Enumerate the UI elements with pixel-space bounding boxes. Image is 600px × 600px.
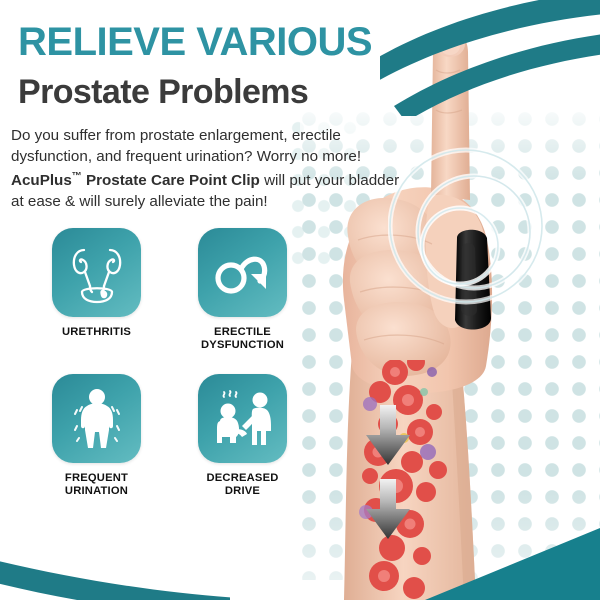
- symptom-card-grid: URETHRITIS ERECTILE DYSFUNCTION: [52, 228, 322, 498]
- page-subheadline: Prostate Problems: [18, 72, 308, 112]
- product-name: AcuPlus: [11, 172, 72, 189]
- symptom-card-label: URETHRITIS: [62, 326, 131, 339]
- body-line-4: at ease & will surely alleviate the pain…: [11, 193, 268, 210]
- symptom-card-tile: [52, 228, 141, 317]
- symptom-card-row: URETHRITIS ERECTILE DYSFUNCTION: [52, 228, 322, 352]
- male-symbol-drooping-arrow-icon: [213, 250, 273, 296]
- page-headline: RELIEVE VARIOUS: [18, 20, 372, 64]
- symptom-card-label: ERECTILE DYSFUNCTION: [201, 326, 284, 352]
- symptom-card-tile: [198, 228, 287, 317]
- symptom-card-frequent-urination[interactable]: FREQUENT URINATION: [52, 374, 141, 498]
- corner-swoosh-bottom-left: [0, 506, 230, 600]
- symptom-card-decreased-drive[interactable]: DECREASED DRIVE: [198, 374, 287, 498]
- corner-wedge-bottom-right: [425, 522, 600, 600]
- person-holding-bladder-icon: [69, 388, 125, 450]
- symptom-card-tile: [52, 374, 141, 463]
- body-line-3-tail: will put your bladder: [260, 172, 399, 189]
- couple-rejection-icon: [212, 389, 274, 449]
- downward-flow-arrows: [360, 405, 416, 545]
- body-copy: Do you suffer from prostate enlargement,…: [11, 126, 403, 212]
- kidneys-bladder-icon: [68, 242, 126, 304]
- symptom-card-erectile-dysfunction[interactable]: ERECTILE DYSFUNCTION: [198, 228, 287, 352]
- symptom-card-urethritis[interactable]: URETHRITIS: [52, 228, 141, 352]
- product-name-rest: Prostate Care Point Clip: [82, 172, 260, 189]
- symptom-card-row: FREQUENT URINATION: [52, 374, 322, 498]
- advertisement-canvas: RELIEVE VARIOUS Prostate Problems Do you…: [0, 0, 600, 600]
- trademark-symbol: ™: [72, 171, 82, 182]
- body-line-1: Do you suffer from prostate enlargement,…: [11, 127, 341, 144]
- symptom-card-label: DECREASED DRIVE: [206, 472, 278, 498]
- acupressure-ripple-rings: [388, 128, 568, 328]
- symptom-card-tile: [198, 374, 287, 463]
- body-line-2: dysfunction, and frequent urination? Wor…: [11, 148, 361, 165]
- symptom-card-label: FREQUENT URINATION: [65, 472, 128, 498]
